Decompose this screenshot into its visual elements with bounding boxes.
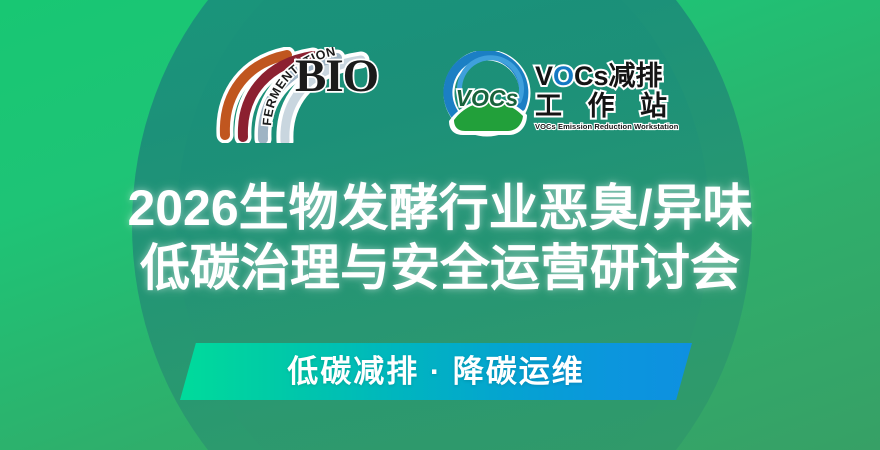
subtitle-text: 低碳减排 · 降碳运维: [287, 355, 585, 389]
vocs-line1: VOCs减排: [535, 61, 678, 91]
vocs-workstation-logo: VOCs VOCs减排 工 作 站 VOCs Emission Reductio…: [441, 47, 667, 143]
vocs-english-subtitle: VOCs Emission Reduction Workstation: [535, 122, 678, 132]
vocs-line2: 工 作 站: [535, 91, 678, 121]
vocs-line1-text: VOCs减排: [535, 61, 663, 91]
title-line-2: 低碳治理与安全运营研讨会: [0, 238, 880, 298]
vocs-emblem-text: VOCs: [456, 85, 519, 111]
title-line-1: 2026生物发酵行业恶臭/异味: [0, 178, 880, 238]
bio-fermentation-logo: FERMENTATION BIO: [213, 47, 399, 143]
vocs-emblem-icon: VOCs: [441, 51, 533, 139]
bio-wordmark: BIO: [295, 53, 378, 100]
poster-title: 2026生物发酵行业恶臭/异味 低碳治理与安全运营研讨会: [0, 178, 880, 298]
event-poster-banner: FERMENTATION BIO VOCs: [0, 0, 880, 450]
vocs-text-block: VOCs减排 工 作 站 VOCs Emission Reduction Wor…: [535, 59, 678, 132]
subtitle-banner: 低碳减排 · 降碳运维: [180, 343, 692, 400]
logo-row: FERMENTATION BIO VOCs: [0, 40, 880, 150]
